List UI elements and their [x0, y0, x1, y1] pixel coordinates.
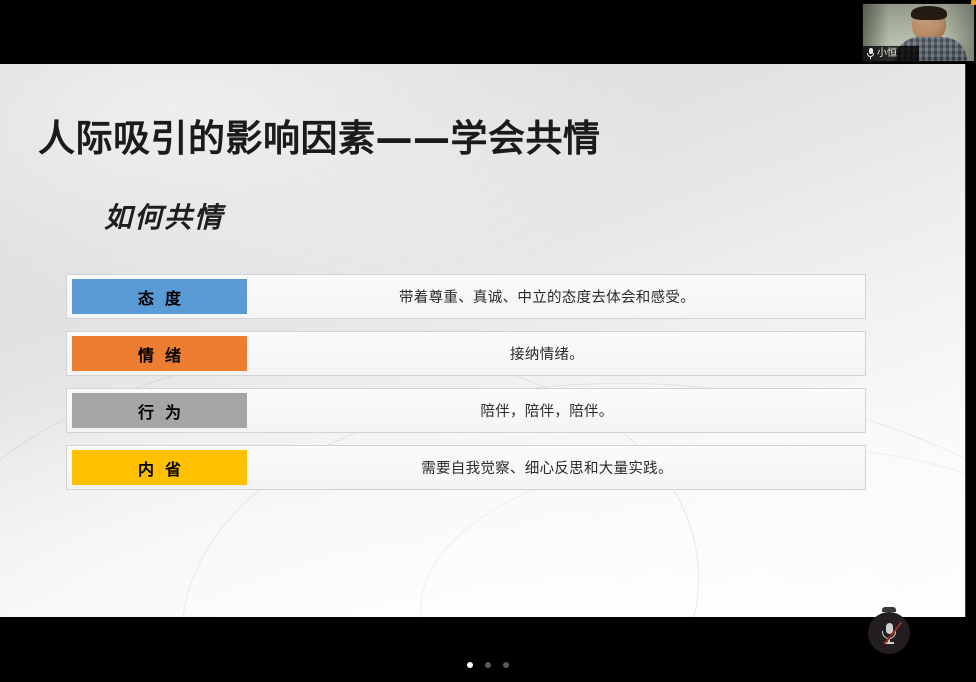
page-indicator-dots[interactable] — [0, 662, 976, 668]
participant-name-bar: 小恒 — [863, 46, 919, 61]
slide-title: 人际吸引的影响因素——学会共情 — [38, 120, 601, 157]
table-row: 情绪 接纳情绪。 — [66, 331, 866, 376]
mute-microphone-button[interactable] — [868, 612, 910, 654]
page-dot-1[interactable] — [467, 662, 473, 668]
screen-share-viewport: 人际吸引的影响因素——学会共情 如何共情 态度 带着尊重、真诚、中立的态度去体会… — [0, 0, 976, 682]
microphone-muted-icon — [881, 622, 897, 644]
row-description-behavior: 陪伴，陪伴，陪伴。 — [247, 400, 865, 421]
row-label-attitude: 态度 — [72, 279, 247, 314]
table-row: 内省 需要自我觉察、细心反思和大量实践。 — [66, 445, 866, 490]
row-label-behavior: 行为 — [72, 393, 247, 428]
page-dot-2[interactable] — [485, 662, 491, 668]
table-row: 态度 带着尊重、真诚、中立的态度去体会和感受。 — [66, 274, 866, 319]
page-dot-3[interactable] — [503, 662, 509, 668]
participant-name-label: 小恒 — [877, 49, 897, 59]
row-description-emotion: 接纳情绪。 — [247, 343, 865, 364]
empathy-steps-table: 态度 带着尊重、真诚、中立的态度去体会和感受。 情绪 接纳情绪。 行为 陪伴，陪… — [66, 274, 866, 502]
participant-video-thumbnail[interactable]: 小恒 — [862, 3, 975, 62]
row-description-introspection: 需要自我觉察、细心反思和大量实践。 — [247, 457, 865, 478]
table-row: 行为 陪伴，陪伴，陪伴。 — [66, 388, 866, 433]
microphone-icon — [867, 48, 874, 59]
presentation-slide: 人际吸引的影响因素——学会共情 如何共情 态度 带着尊重、真诚、中立的态度去体会… — [0, 64, 966, 617]
bottom-toolbar — [0, 617, 976, 682]
row-label-emotion: 情绪 — [72, 336, 247, 371]
row-description-attitude: 带着尊重、真诚、中立的态度去体会和感受。 — [247, 286, 865, 307]
recording-indicator-dot — [971, 0, 976, 5]
row-label-introspection: 内省 — [72, 450, 247, 485]
person-hair — [911, 6, 947, 20]
mute-button-nub — [882, 607, 896, 612]
slide-subtitle: 如何共情 — [104, 204, 224, 232]
